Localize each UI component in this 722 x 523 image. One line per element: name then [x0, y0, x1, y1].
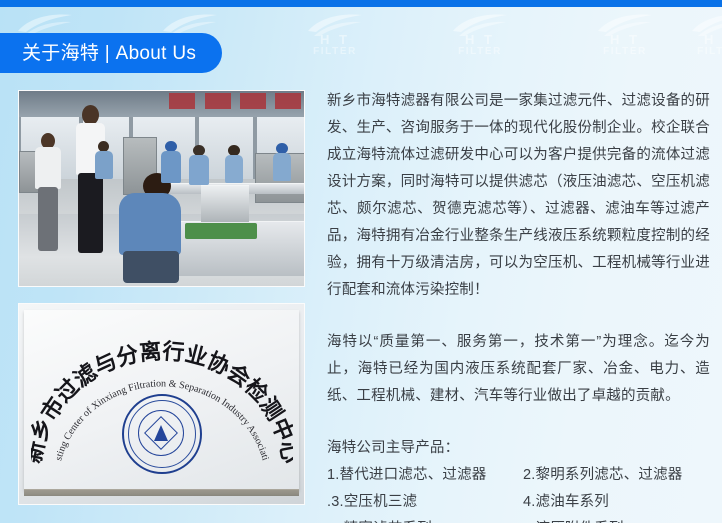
plaque-edge-shadow — [24, 489, 299, 496]
product-item: 5. 精密滤芯系列 — [327, 516, 523, 523]
plaque-photo-content: 新乡市过滤与分离行业协会检测中心 Testing Center of Xinxi… — [19, 304, 304, 504]
watermark-sub: FILTER — [680, 46, 722, 57]
section-heading-pill: 关于海特 | About Us — [0, 33, 222, 73]
ht-swoosh-icon — [449, 11, 511, 37]
factory-worker — [273, 143, 291, 191]
factory-photo — [18, 90, 305, 287]
watermark-logo: H T FILTER — [680, 11, 722, 67]
worker-torso — [119, 193, 181, 255]
watermark-sub: FILTER — [296, 46, 374, 57]
factory-green-mat — [185, 223, 257, 239]
factory-worker — [161, 141, 181, 195]
factory-banner — [169, 93, 195, 109]
product-item: 2.黎明系列滤芯、过滤器 — [523, 462, 710, 489]
product-item: .3.空压机三滤 — [327, 489, 523, 516]
about-text-column: 新乡市海特滤器有限公司是一家集过滤元件、过滤设备的研发、生产、咨询服务于一体的现… — [327, 88, 710, 523]
product-row: 1.替代进口滤芯、过滤器 2.黎明系列滤芯、过滤器 — [327, 462, 710, 489]
products-title: 海特公司主导产品： — [327, 435, 710, 462]
product-item: 1.替代进口滤芯、过滤器 — [327, 462, 523, 489]
association-seal-icon — [122, 394, 202, 474]
watermark-sub: FILTER — [586, 46, 664, 57]
product-item: 4.滤油车系列 — [523, 489, 710, 516]
about-paragraph-2: 海特以“质量第一、服务第一，技术第一”为理念。迄今为止，海特已经为国内液压系统配… — [327, 329, 710, 410]
seal-inner-ring — [138, 410, 184, 456]
worker-torso — [189, 155, 209, 185]
page-title: 关于海特 | About Us — [22, 44, 196, 63]
ht-swoosh-icon — [594, 11, 656, 37]
factory-worker — [189, 145, 209, 195]
top-accent-bar — [0, 0, 722, 7]
factory-banner — [205, 93, 231, 109]
seal-arrow — [154, 425, 168, 441]
plaque-photo: 新乡市过滤与分离行业协会检测中心 Testing Center of Xinxi… — [18, 303, 305, 505]
worker-torso — [35, 147, 61, 189]
ht-swoosh-icon — [304, 11, 366, 37]
factory-worker — [35, 133, 61, 255]
about-us-page: H T FILTER H T FILTER H T FILTER H T — [0, 0, 722, 523]
worker-legs — [38, 187, 58, 251]
worker-torso — [161, 151, 181, 183]
worker-torso — [95, 151, 113, 179]
worker-torso — [273, 153, 291, 181]
watermark-logo: H T FILTER — [441, 11, 519, 67]
watermark-sub: FILTER — [441, 46, 519, 57]
product-item: 7.液压附件系列 — [523, 516, 710, 523]
watermark-brand: H T — [680, 33, 722, 47]
worker-torso — [225, 155, 243, 183]
watermark-brand: H T — [441, 33, 519, 47]
factory-banner — [275, 93, 301, 109]
factory-photo-content — [19, 91, 304, 286]
ht-swoosh-icon — [688, 11, 722, 37]
product-row: .3.空压机三滤 4.滤油车系列 — [327, 489, 710, 516]
watermark-logo: H T FILTER — [296, 11, 374, 67]
products-section: 海特公司主导产品： 1.替代进口滤芯、过滤器 2.黎明系列滤芯、过滤器 .3.空… — [327, 435, 710, 523]
factory-worker — [225, 145, 243, 193]
factory-worker — [95, 141, 113, 189]
factory-banner — [240, 93, 266, 109]
watermark-brand: H T — [586, 33, 664, 47]
product-row: 5. 精密滤芯系列 7.液压附件系列 — [327, 516, 710, 523]
watermark-brand: H T — [296, 33, 374, 47]
watermark-logo: H T FILTER — [586, 11, 664, 67]
about-paragraph-1: 新乡市海特滤器有限公司是一家集过滤元件、过滤设备的研发、生产、咨询服务于一体的现… — [327, 88, 710, 304]
worker-legs — [123, 251, 179, 283]
worker-head — [82, 105, 99, 125]
